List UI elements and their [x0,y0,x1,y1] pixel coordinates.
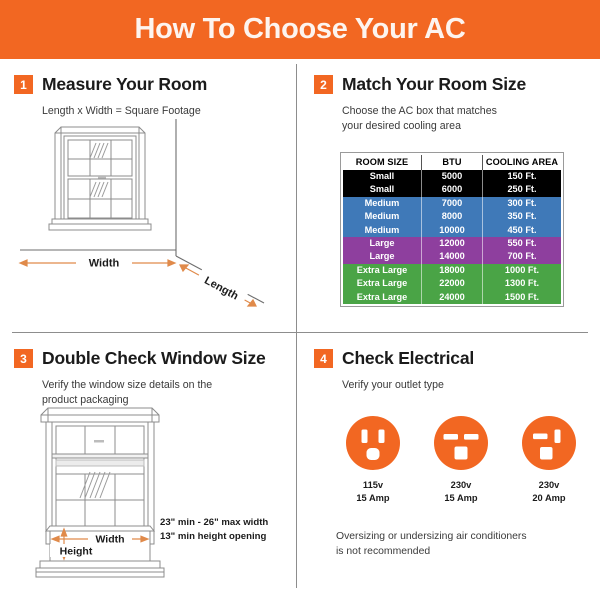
outlet-option-3[interactable]: 230v 20 Amp [512,414,586,504]
outlet-2-volts: 230v [424,479,498,492]
btu-cell-area: 1000 Ft. [483,264,562,277]
width-label: Width [89,257,120,269]
outlet-115v-15amp-icon [336,414,410,472]
outlet-2-caption: 230v 15 Amp [424,479,498,504]
oversizing-note: Oversizing or undersizing air conditione… [336,530,580,560]
btu-cooling-area-table: ROOM SIZE BTU COOLING AREA Small5000150 … [343,155,561,304]
table-row: Small6000250 Ft. [343,183,561,196]
btu-cell-btu: 8000 [421,210,482,223]
step-3-number-badge: 3 [14,349,33,368]
step-2-number-badge: 2 [314,75,333,94]
btu-cell-size: Extra Large [343,277,421,290]
table-row: Extra Large240001500 Ft. [343,291,561,304]
outlet-230v-20amp-icon [512,414,586,472]
outlet-1-amps: 15 Amp [336,492,410,505]
step-3-title: Double Check Window Size [42,348,266,369]
page-title: How To Choose Your AC [135,13,466,46]
window-size-diagram: Width Height [28,400,188,582]
outlet-1-volts: 115v [336,479,410,492]
step-4-header: 4 Check Electrical [314,348,590,369]
btu-table-header-row: ROOM SIZE BTU COOLING AREA [343,155,561,170]
step-3-panel: 3 Double Check Window Size Verify the wi… [14,348,290,590]
window-height-label: Height [60,546,93,558]
step-2-subtitle: Choose the AC box that matches your desi… [342,104,590,133]
table-row: Extra Large180001000 Ft. [343,264,561,277]
step-1-header: 1 Measure Your Room [14,74,290,95]
window-size-note: 23" min - 26" max width 13" min height o… [160,516,290,545]
outlet-option-1[interactable]: 115v 15 Amp [336,414,410,504]
btu-header-room-size: ROOM SIZE [343,155,421,170]
btu-cell-btu: 22000 [421,277,482,290]
step-4-panel: 4 Check Electrical Verify your outlet ty… [314,348,590,590]
btu-cell-area: 350 Ft. [483,210,562,223]
btu-cell-size: Small [343,183,421,196]
btu-cell-size: Medium [343,224,421,237]
btu-cell-btu: 24000 [421,291,482,304]
btu-cell-size: Medium [343,210,421,223]
btu-cell-area: 250 Ft. [483,183,562,196]
step-1-title: Measure Your Room [42,74,207,95]
btu-cell-area: 550 Ft. [483,237,562,250]
step-4-number-badge: 4 [314,349,333,368]
outlet-230v-15amp-icon [424,414,498,472]
page-header-banner: How To Choose Your AC [0,0,600,59]
outlet-3-amps: 20 Amp [512,492,586,505]
window-illustration [49,127,151,230]
btu-cell-size: Large [343,250,421,263]
step-1-panel: 1 Measure Your Room Length x Width = Squ… [14,74,290,326]
table-row: Extra Large220001300 Ft. [343,277,561,290]
outlet-3-volts: 230v [512,479,586,492]
btu-table-body: Small5000150 Ft.Small6000250 Ft.Medium70… [343,170,561,304]
table-row: Medium8000350 Ft. [343,210,561,223]
btu-table-container: ROOM SIZE BTU COOLING AREA Small5000150 … [340,152,564,307]
window-note-line-1: 23" min - 26" max width [160,516,290,530]
btu-cell-btu: 5000 [421,170,482,183]
btu-cell-btu: 18000 [421,264,482,277]
btu-cell-btu: 10000 [421,224,482,237]
table-row: Small5000150 Ft. [343,170,561,183]
btu-cell-size: Small [343,170,421,183]
btu-cell-btu: 6000 [421,183,482,196]
outlet-1-caption: 115v 15 Amp [336,479,410,504]
btu-cell-size: Large [343,237,421,250]
btu-cell-area: 150 Ft. [483,170,562,183]
horizontal-divider [12,332,588,333]
window-note-line-2: 13" min height opening [160,530,290,544]
step-2-header: 2 Match Your Room Size [314,74,590,95]
outlet-type-list: 115v 15 Amp 230v 15 Amp [336,414,586,504]
oversizing-note-line-2: is not recommended [336,545,580,560]
step-3-header: 3 Double Check Window Size [14,348,290,369]
btu-cell-size: Extra Large [343,291,421,304]
window-width-label: Width [95,534,124,546]
btu-cell-size: Extra Large [343,264,421,277]
step-1-number-badge: 1 [14,75,33,94]
outlet-3-caption: 230v 20 Amp [512,479,586,504]
table-row: Medium10000450 Ft. [343,224,561,237]
table-row: Large14000700 Ft. [343,250,561,263]
btu-header-btu: BTU [421,155,482,170]
btu-cell-area: 1500 Ft. [483,291,562,304]
step-1-subtitle: Length x Width = Square Footage [42,104,290,119]
step-2-title: Match Your Room Size [342,74,526,95]
step-4-subtitle: Verify your outlet type [342,378,590,393]
btu-cell-area: 300 Ft. [483,197,562,210]
table-row: Large12000550 Ft. [343,237,561,250]
btu-cell-btu: 14000 [421,250,482,263]
btu-cell-area: 450 Ft. [483,224,562,237]
table-row: Medium7000300 Ft. [343,197,561,210]
outlet-2-amps: 15 Amp [424,492,498,505]
step-4-title: Check Electrical [342,348,474,369]
btu-header-cooling-area: COOLING AREA [483,155,562,170]
btu-cell-area: 1300 Ft. [483,277,562,290]
oversizing-note-line-1: Oversizing or undersizing air conditione… [336,530,580,545]
room-measure-diagram: Width Length [14,119,290,314]
outlet-option-2[interactable]: 230v 15 Amp [424,414,498,504]
btu-cell-btu: 12000 [421,237,482,250]
btu-cell-btu: 7000 [421,197,482,210]
btu-cell-area: 700 Ft. [483,250,562,263]
vertical-divider [296,64,297,588]
step-2-panel: 2 Match Your Room Size Choose the AC box… [314,74,590,326]
btu-cell-size: Medium [343,197,421,210]
infographic-page: How To Choose Your AC 1 Measure Your Roo… [0,0,600,600]
